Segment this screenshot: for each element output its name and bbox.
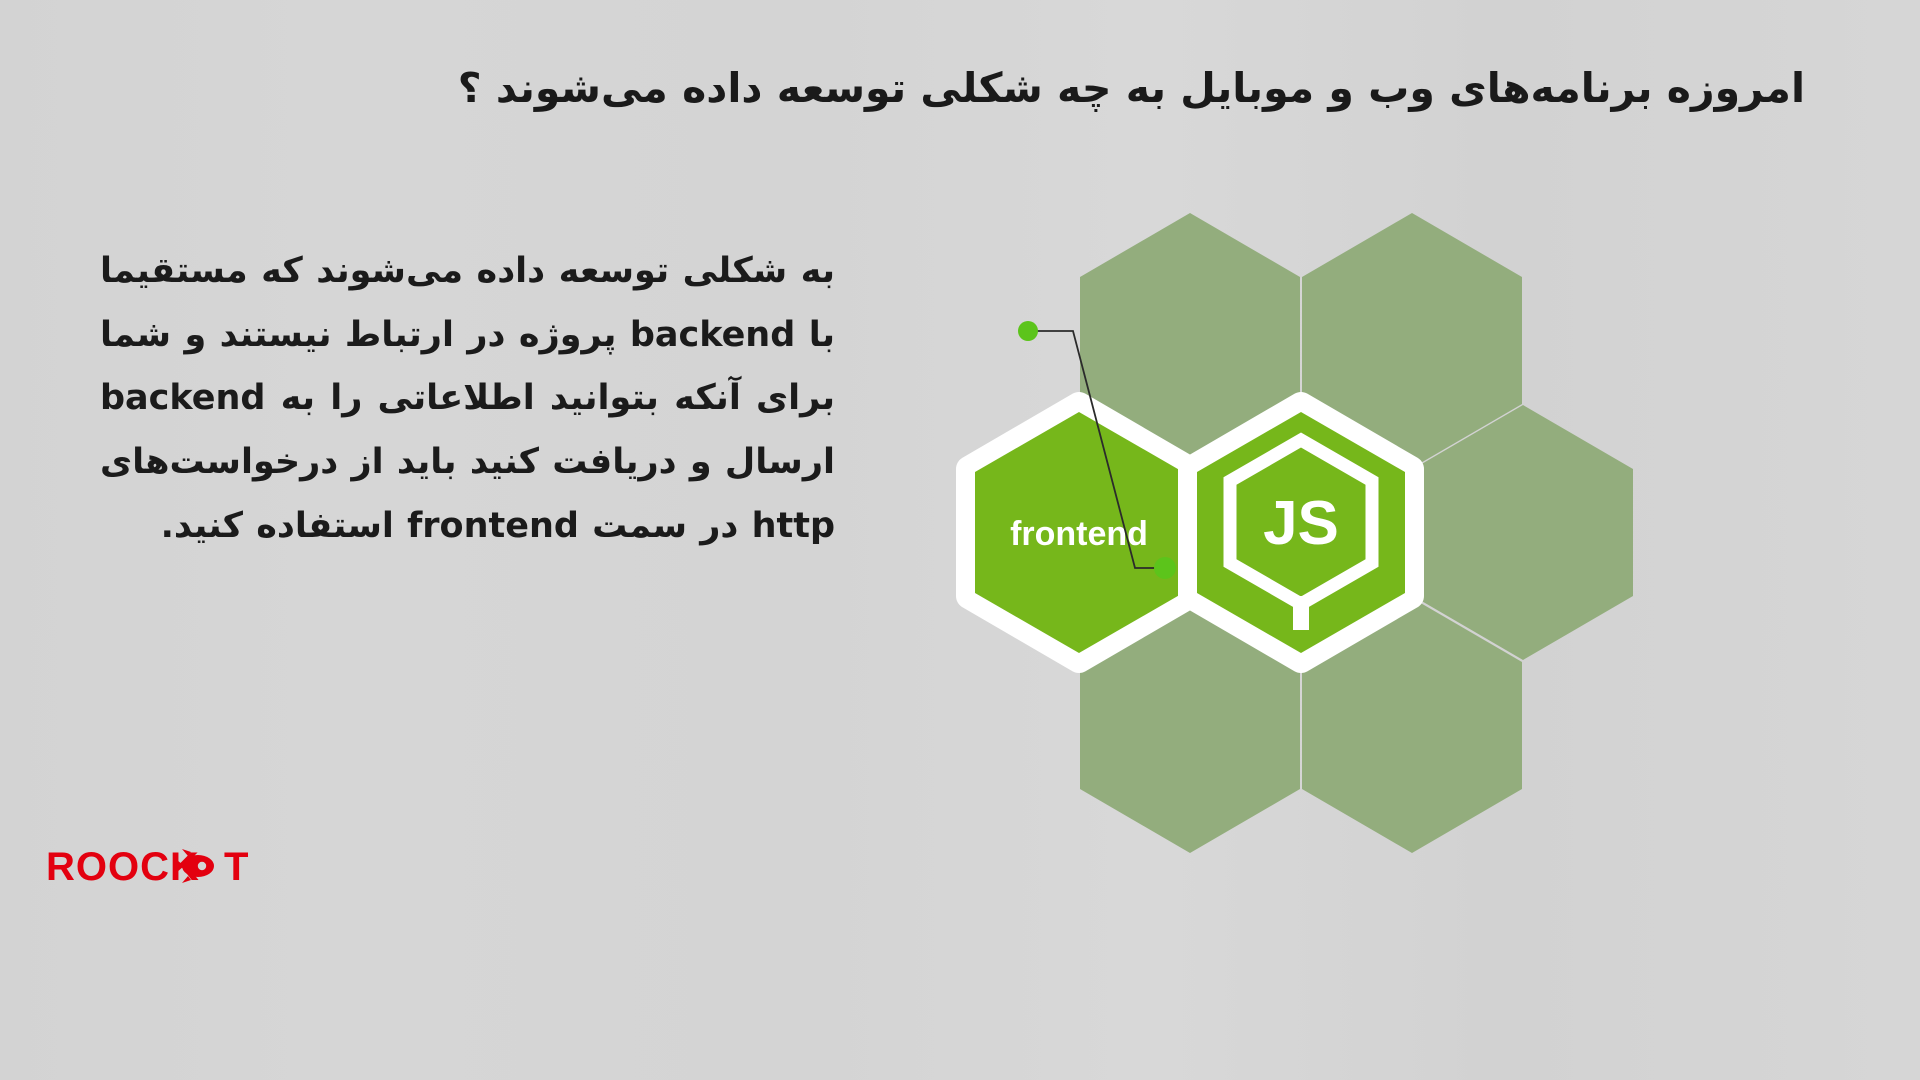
page-title: امروزه برنامه‌های وب و موبایل به چه شکلی… [115, 58, 1805, 120]
body-paragraph: به شکلی توسعه داده می‌شوند که مستقیما با… [100, 240, 835, 558]
roocket-logo-svg: ROOCK T [46, 843, 306, 893]
roocket-logo-text-tail: T [224, 845, 249, 889]
roocket-logo[interactable]: ROOCK T [46, 844, 306, 892]
